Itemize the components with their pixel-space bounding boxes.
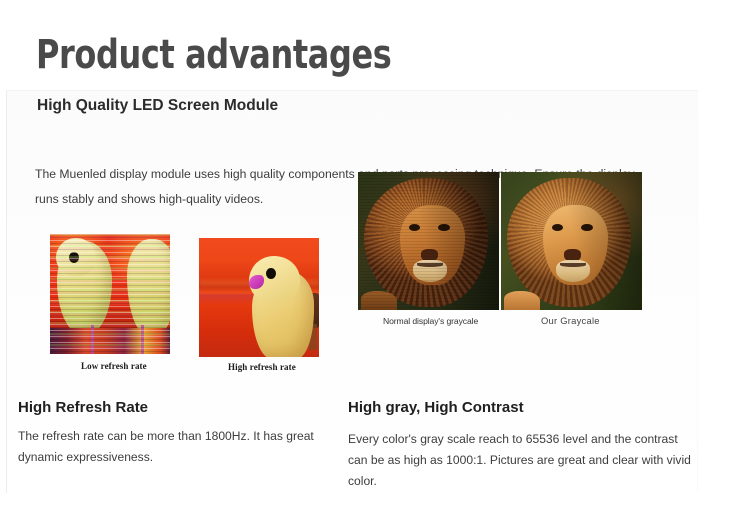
section-subtitle: High Quality LED Screen Module: [37, 96, 278, 116]
image-high-refresh-rate: [199, 238, 319, 357]
lion-normal-banding-artifact: [358, 172, 499, 310]
caption-high-refresh-rate: High refresh rate: [228, 362, 296, 372]
image-lion-normal-grayscale: [358, 172, 499, 310]
color-tearing-overlay: [50, 234, 170, 354]
image-low-refresh-rate: [50, 234, 170, 354]
page-title: Product advantages: [36, 32, 391, 78]
caption-low-refresh-rate: Low refresh rate: [81, 361, 147, 371]
feature-block-high-gray-contrast: High gray, High Contrast Every color's g…: [348, 398, 693, 492]
feature-body-high-gray-contrast: Every color's gray scale reach to 65536 …: [348, 429, 693, 492]
caption-our-grayscale: Our Graycale: [541, 315, 600, 326]
feature-block-high-refresh-rate: High Refresh Rate The refresh rate can b…: [18, 398, 333, 468]
image-lion-our-grayscale: [501, 172, 642, 310]
feature-title-high-refresh-rate: High Refresh Rate: [18, 398, 333, 418]
product-advantages-page: Product advantages High Quality LED Scre…: [0, 0, 750, 530]
lion-ours-shading: [501, 172, 642, 310]
feature-body-high-refresh-rate: The refresh rate can be more than 1800Hz…: [18, 426, 333, 468]
feature-title-high-gray-contrast: High gray, High Contrast: [348, 398, 693, 418]
caption-normal-grayscale: Normal display's graycale: [383, 316, 478, 326]
